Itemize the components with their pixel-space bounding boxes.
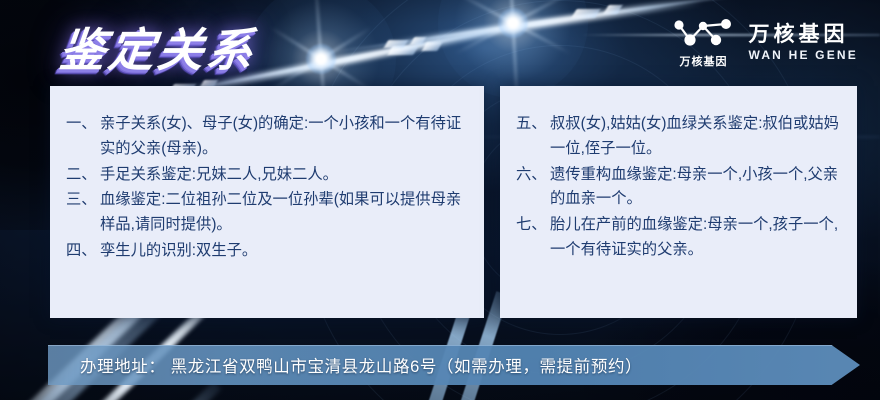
list-item-number: 五、 xyxy=(516,112,550,162)
list-item: 六、 遗传重构血缘鉴定:母亲一个,小孩一个,父亲的血亲一个。 xyxy=(516,163,843,213)
services-panel-right: 五、 叔叔(女),姑姑(女)血绿关系鉴定:叔伯或姑妈一位,侄子一位。 六、 遗传… xyxy=(500,86,857,318)
services-panel-left: 一、 亲子关系(女)、母子(女)的确定:一个小孩和一个有待证实的父亲(母亲)。 … xyxy=(50,86,484,318)
list-item: 四、 孪生儿的识别:双生子。 xyxy=(66,239,470,264)
list-item-text: 遗传重构血缘鉴定:母亲一个,小孩一个,父亲的血亲一个。 xyxy=(550,163,843,213)
list-item: 七、 胎儿在产前的血缘鉴定:母亲一个,孩子一个,一个有待证实的父亲。 xyxy=(516,213,843,263)
list-item: 五、 叔叔(女),姑姑(女)血绿关系鉴定:叔伯或姑妈一位,侄子一位。 xyxy=(516,112,843,162)
logo-name-en: WAN HE GENE xyxy=(748,48,858,62)
services-list-left: 一、 亲子关系(女)、母子(女)的确定:一个小孩和一个有待证实的父亲(母亲)。 … xyxy=(50,86,484,264)
brand-logo[interactable]: 万核基因 万核基因 WAN HE GENE xyxy=(672,16,858,69)
services-list-right: 五、 叔叔(女),姑姑(女)血绿关系鉴定:叔伯或姑妈一位,侄子一位。 六、 遗传… xyxy=(500,86,857,263)
list-item-number: 六、 xyxy=(516,163,550,213)
address-banner-text: 办理地址： 黑龙江省双鸭山市宝清县龙山路6号（如需办理，需提前预约） xyxy=(80,345,642,385)
list-item-number: 七、 xyxy=(516,213,550,263)
list-item: 三、 血缘鉴定:二位祖孙二位及一位孙辈(如果可以提供母亲样品,请同时提供)。 xyxy=(66,188,470,238)
logo-mark-caption: 万核基因 xyxy=(679,53,727,69)
page-title: 鉴定关系 xyxy=(57,14,260,80)
logo-wordmark: 万核基因 WAN HE GENE xyxy=(748,23,858,62)
logo-name-cn: 万核基因 xyxy=(748,23,858,46)
list-item-number: 一、 xyxy=(66,112,100,162)
logo-mark: 万核基因 xyxy=(672,16,734,69)
poster-canvas: 鉴定关系 xyxy=(0,0,880,400)
list-item: 二、 手足关系鉴定:兄妹二人,兄妹二人。 xyxy=(66,163,470,188)
address-banner: 办理地址： 黑龙江省双鸭山市宝清县龙山路6号（如需办理，需提前预约） xyxy=(48,345,860,385)
list-item-number: 二、 xyxy=(66,163,100,188)
list-item-text: 血缘鉴定:二位祖孙二位及一位孙辈(如果可以提供母亲样品,请同时提供)。 xyxy=(100,188,470,238)
list-item: 一、 亲子关系(女)、母子(女)的确定:一个小孩和一个有待证实的父亲(母亲)。 xyxy=(66,112,470,162)
list-item-text: 手足关系鉴定:兄妹二人,兄妹二人。 xyxy=(100,163,470,188)
list-item-number: 三、 xyxy=(66,188,100,238)
molecule-network-icon xyxy=(672,16,734,50)
list-item-text: 胎儿在产前的血缘鉴定:母亲一个,孩子一个,一个有待证实的父亲。 xyxy=(550,213,843,263)
list-item-text: 亲子关系(女)、母子(女)的确定:一个小孩和一个有待证实的父亲(母亲)。 xyxy=(100,112,470,162)
list-item-number: 四、 xyxy=(66,239,100,264)
list-item-text: 孪生儿的识别:双生子。 xyxy=(100,239,470,264)
list-item-text: 叔叔(女),姑姑(女)血绿关系鉴定:叔伯或姑妈一位,侄子一位。 xyxy=(550,112,843,162)
